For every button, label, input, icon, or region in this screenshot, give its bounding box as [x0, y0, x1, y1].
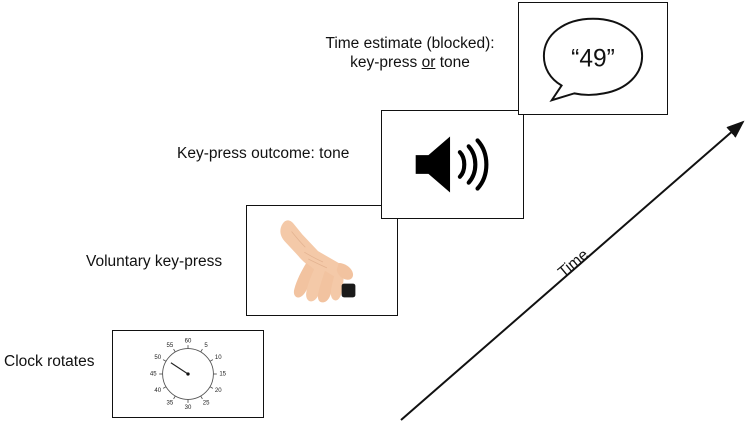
panel-time-estimate: “49” [518, 2, 668, 115]
clock-tick-50: 50 [154, 355, 161, 361]
speech-bubble-text: “49” [571, 45, 615, 72]
label-voluntary-key-press: Voluntary key-press [86, 252, 222, 271]
clock-tick-30: 30 [185, 405, 192, 411]
clock-tick-25: 25 [203, 400, 210, 406]
clock-tick-40: 40 [154, 388, 161, 394]
clock-tick-10: 10 [215, 355, 222, 361]
clock-tick-55: 55 [167, 343, 174, 349]
clock-tick-35: 35 [167, 400, 174, 406]
clock-tick-15: 15 [219, 372, 226, 378]
trial-sequence-figure: Time Clock rotates [0, 0, 749, 425]
clock-center-dot [186, 372, 189, 375]
clock-tick-60: 60 [185, 338, 192, 344]
label-line2-pre: key-press [350, 54, 422, 71]
clock-tick-5: 5 [204, 343, 208, 349]
label-line2-post: tone [435, 54, 469, 71]
speech-bubble-icon: “49” [519, 3, 667, 114]
panel-key-press-outcome [381, 110, 524, 219]
label-clock-rotates: Clock rotates [4, 352, 94, 371]
label-time-estimate: Time estimate (blocked): key-press or to… [305, 34, 515, 72]
label-key-press-outcome: Key-press outcome: tone [177, 144, 349, 163]
panel-voluntary-key-press [246, 205, 398, 316]
label-line2-or: or [422, 54, 436, 71]
speaker-sound-icon [382, 111, 523, 218]
rotating-clock-icon: 60 5 10 15 20 25 30 35 40 45 50 55 [113, 331, 263, 417]
label-time-estimate-line1: Time estimate (blocked): [325, 35, 494, 52]
panel-clock-rotates: 60 5 10 15 20 25 30 35 40 45 50 55 [112, 330, 264, 418]
clock-tick-20: 20 [215, 388, 222, 394]
clock-tick-45: 45 [150, 372, 157, 378]
sound-waves [460, 140, 487, 188]
time-axis-label: Time [555, 246, 593, 282]
key-button[interactable] [342, 284, 356, 298]
speaker-body [416, 137, 450, 193]
hand-pressing-key-icon [247, 206, 397, 315]
label-time-estimate-line2: key-press or tone [305, 53, 515, 72]
